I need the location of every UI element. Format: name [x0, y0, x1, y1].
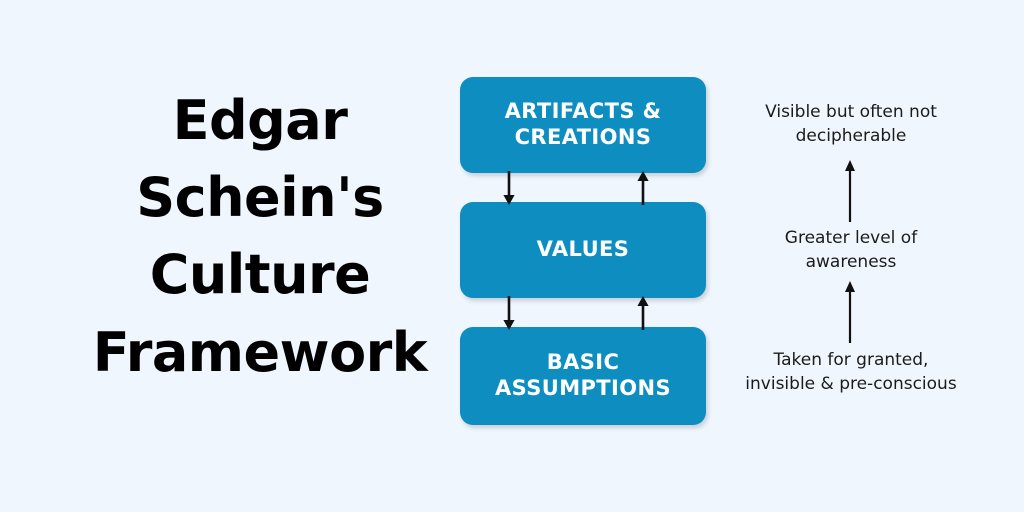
arrow-down-icon-artifacts-to-values: [498, 171, 520, 205]
arrow-down-icon-values-to-basic-assumptions: [498, 296, 520, 330]
level-box-values-label-line-1: VALUES: [537, 237, 630, 261]
arrow-up-icon-preconscious-to-awareness: [839, 281, 861, 343]
level-box-artifacts-label: ARTIFACTS & CREATIONS: [497, 99, 670, 150]
page-title: Edgar Schein's Culture Framework: [60, 82, 460, 391]
level-box-basic-assumptions-label-line-1: BASIC: [547, 350, 620, 374]
arrow-up-icon-awareness-to-visible: [839, 160, 861, 222]
annotation-basic-assumptions-line-2: invisible & pre-conscious: [724, 372, 978, 396]
level-box-basic-assumptions-label: BASIC ASSUMPTIONS: [487, 350, 679, 401]
level-box-basic-assumptions: BASIC ASSUMPTIONS: [460, 327, 706, 425]
level-box-artifacts-label-line-1: ARTIFACTS &: [505, 99, 662, 123]
level-box-values-label: VALUES: [529, 237, 638, 263]
annotation-basic-assumptions: Taken for granted, invisible & pre-consc…: [724, 348, 978, 396]
annotation-artifacts-line-2: decipherable: [724, 124, 978, 148]
level-box-values: VALUES: [460, 202, 706, 298]
page-title-line-2: Schein's: [60, 159, 460, 236]
page-title-line-3: Culture: [60, 236, 460, 313]
annotation-artifacts-line-1: Visible but often not: [724, 100, 978, 124]
annotation-values: Greater level of awareness: [724, 226, 978, 274]
diagram-canvas: Edgar Schein's Culture Framework ARTIFAC…: [0, 0, 1024, 512]
arrow-up-icon-values-to-artifacts: [632, 171, 654, 205]
annotation-artifacts: Visible but often not decipherable: [724, 100, 978, 148]
level-box-artifacts-label-line-2: CREATIONS: [515, 125, 652, 149]
annotation-basic-assumptions-line-1: Taken for granted,: [724, 348, 978, 372]
annotation-values-line-1: Greater level of: [724, 226, 978, 250]
level-box-basic-assumptions-label-line-2: ASSUMPTIONS: [495, 376, 671, 400]
annotation-values-line-2: awareness: [724, 250, 978, 274]
arrow-up-icon-basic-assumptions-to-values: [632, 296, 654, 330]
page-title-line-1: Edgar: [60, 82, 460, 159]
page-title-line-4: Framework: [60, 314, 460, 391]
level-box-artifacts: ARTIFACTS & CREATIONS: [460, 77, 706, 173]
